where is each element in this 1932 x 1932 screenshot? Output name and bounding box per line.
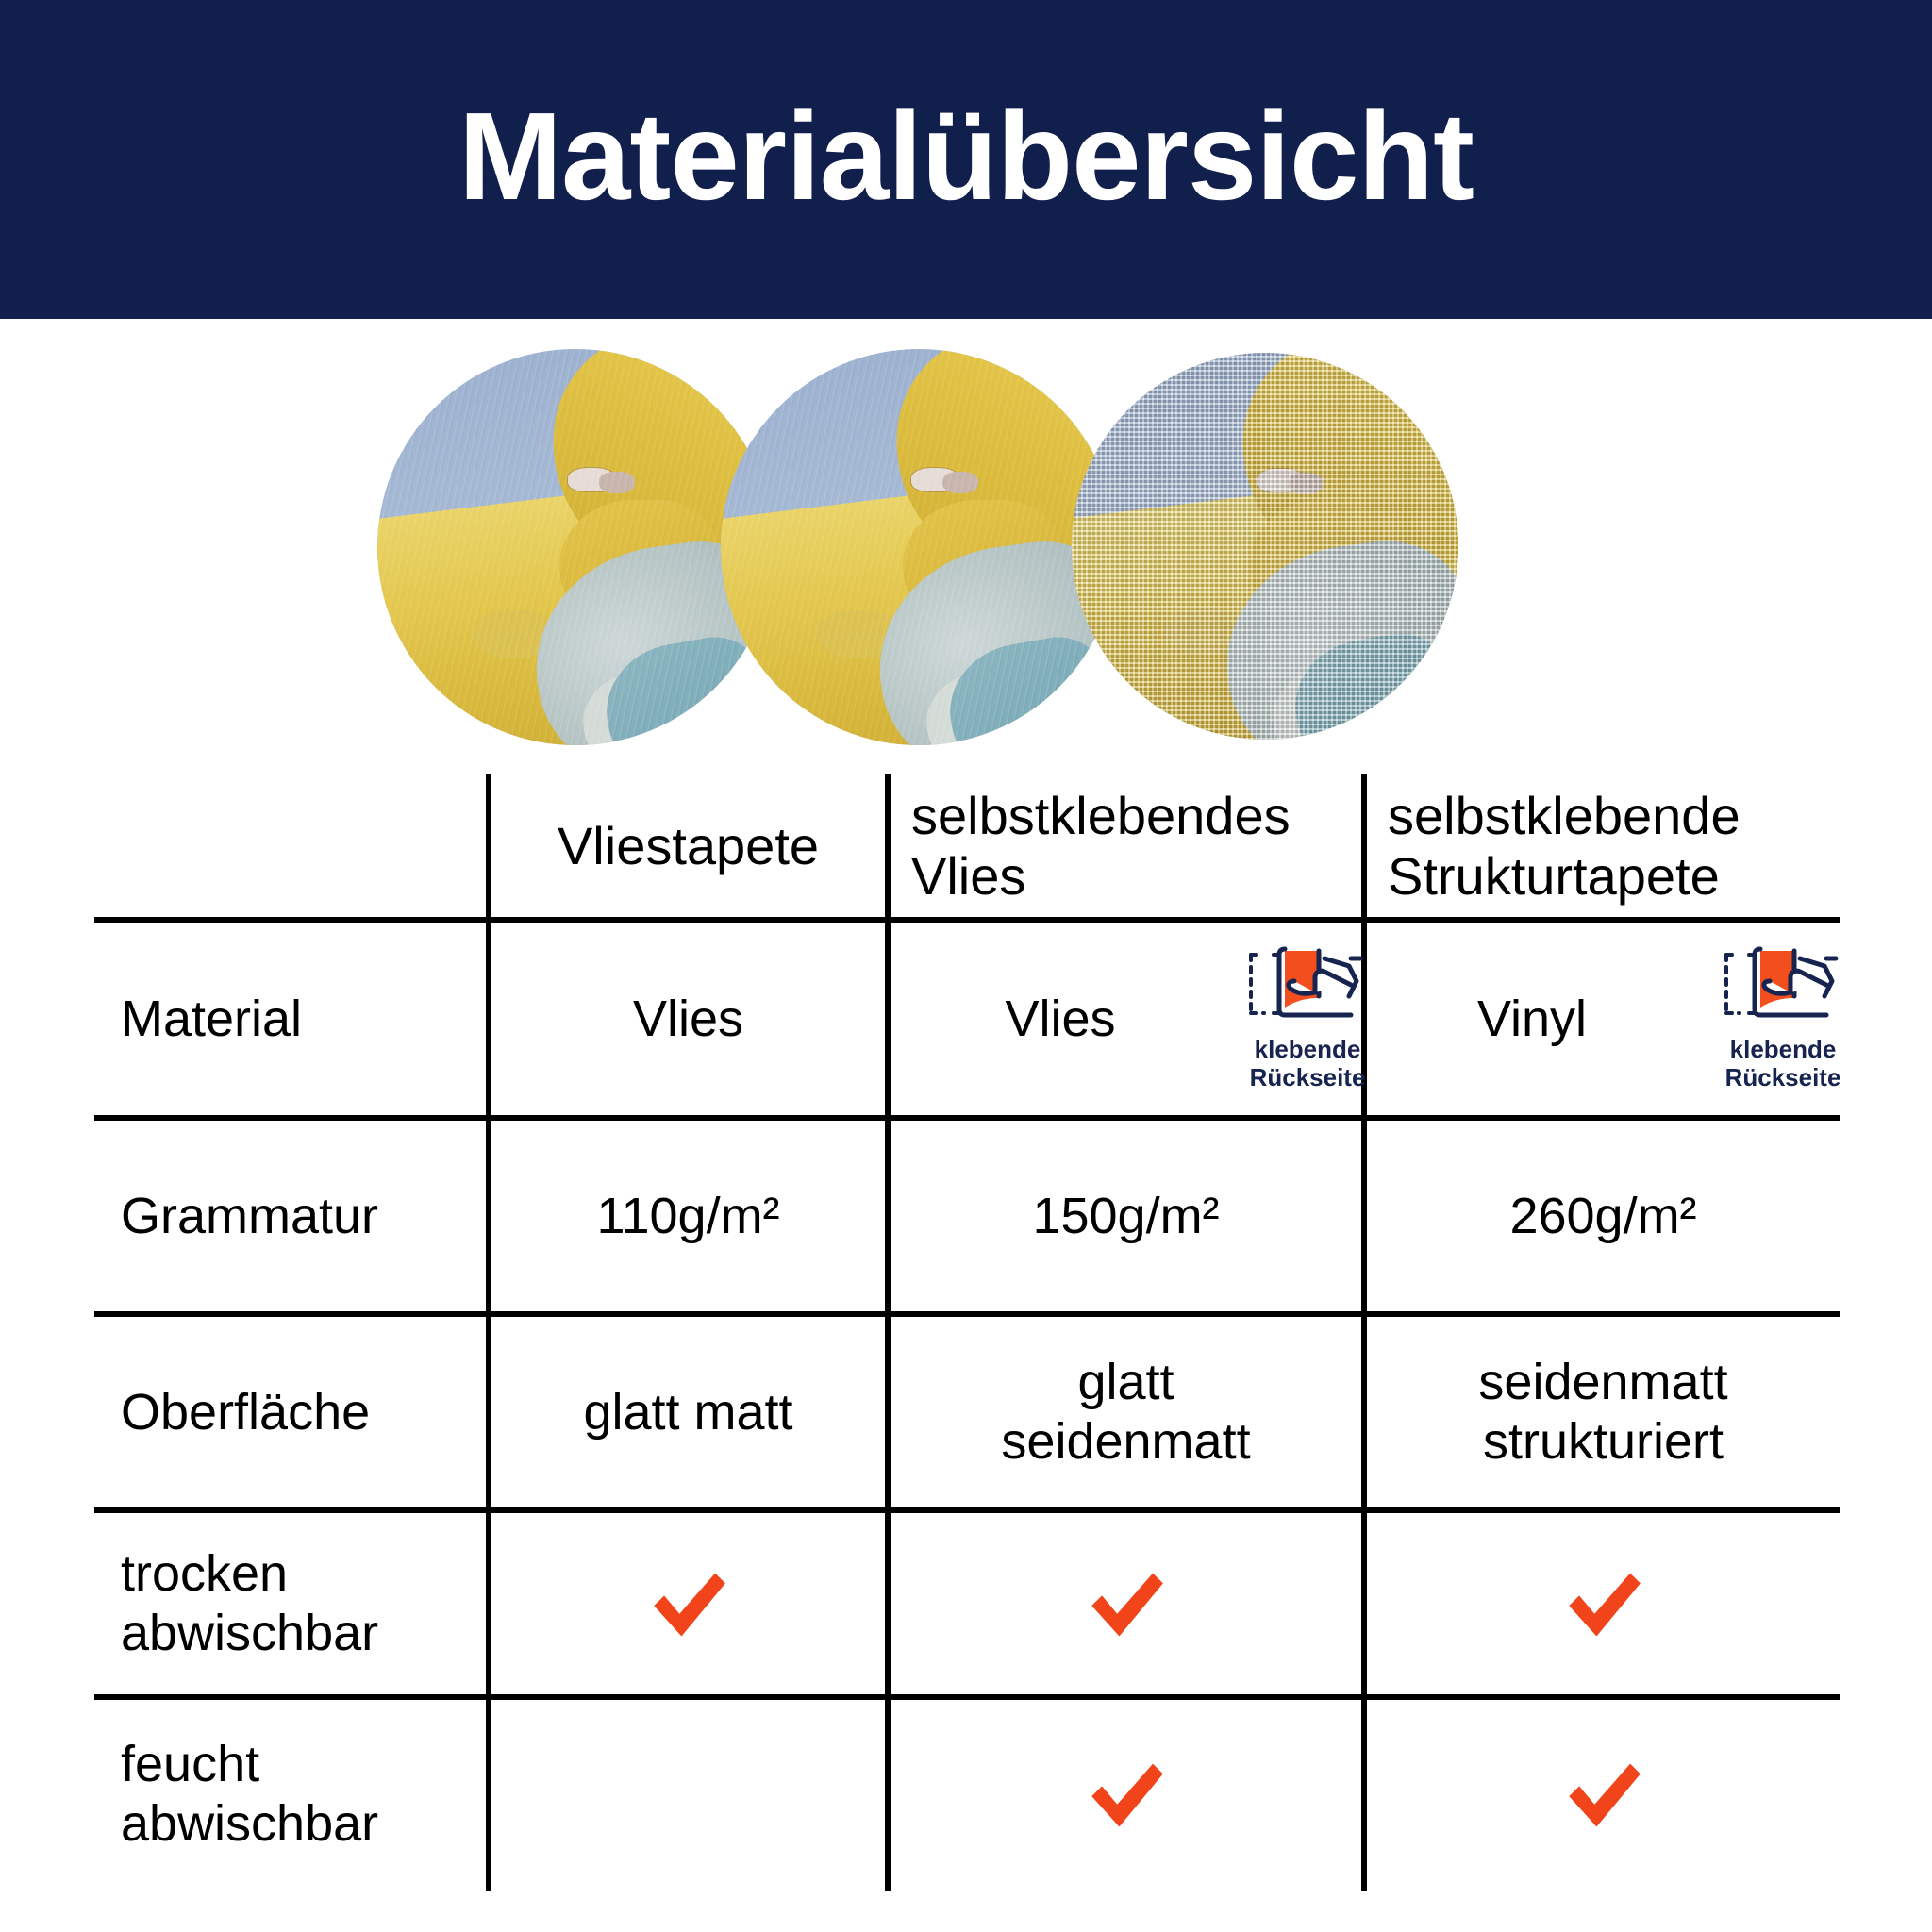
row-label-grammatur: Grammatur [94,1121,486,1311]
cell-material-selbstklebende-strukturtapete: Vinyl [1367,923,1697,1115]
cell-grammatur-vliestapete: 110g/m² [491,1121,885,1311]
column-header-selbstklebende-strukturtapete: selbstklebende Strukturtapete [1367,775,1840,917]
adhesive-back-badge-label-line2: Rückseite [1698,1064,1868,1092]
cell-material-vliestapete: Vlies [491,923,885,1115]
row-label-material: Material [94,923,486,1115]
adhesive-back-badge-label-line1: klebende [1223,1036,1392,1064]
checkmark-icon [1075,1553,1177,1655]
cell-feucht-selbstklebendes-vlies [891,1700,1361,1889]
checkmark-icon [1075,1743,1177,1845]
adhesive-back-badge-label-line1: klebende [1698,1036,1868,1064]
peel-adhesive-back-icon [1245,940,1370,1030]
column-header-selbstklebendes-vlies: selbstklebendes Vlies [891,775,1361,917]
cell-grammatur-selbstklebende-strukturtapete: 260g/m² [1367,1121,1840,1311]
cell-trocken-selbstklebendes-vlies [891,1513,1361,1694]
cell-oberflaeche-vliestapete: glatt matt [491,1317,885,1507]
cell-trocken-selbstklebende-strukturtapete [1367,1513,1840,1694]
material-comparison-table: Vliestapete selbstklebendes Vlies selbst… [0,0,1932,1932]
checkmark-icon [1553,1553,1655,1655]
checkmark-icon [638,1553,740,1655]
adhesive-back-badge-label-line2: Rückseite [1223,1064,1392,1092]
row-label-feucht-abwischbar: feucht abwischbar [94,1700,486,1889]
cell-grammatur-selbstklebendes-vlies: 150g/m² [891,1121,1361,1311]
cell-feucht-vliestapete [491,1700,885,1889]
adhesive-back-badge: klebende Rückseite [1698,940,1868,1091]
cell-material-selbstklebendes-vlies: Vlies [891,923,1230,1115]
peel-adhesive-back-icon [1721,940,1845,1030]
cell-trocken-vliestapete [491,1513,885,1694]
column-header-vliestapete: Vliestapete [491,775,885,917]
row-label-oberflaeche: Oberfläche [94,1317,486,1507]
row-label-trocken-abwischbar: trocken abwischbar [94,1513,486,1694]
cell-oberflaeche-selbstklebendes-vlies: glatt seidenmatt [891,1317,1361,1507]
checkmark-icon [1553,1743,1655,1845]
cell-feucht-selbstklebende-strukturtapete [1367,1700,1840,1889]
adhesive-back-badge: klebende Rückseite [1223,940,1392,1091]
cell-oberflaeche-selbstklebende-strukturtapete: seidenmatt strukturiert [1367,1317,1840,1507]
